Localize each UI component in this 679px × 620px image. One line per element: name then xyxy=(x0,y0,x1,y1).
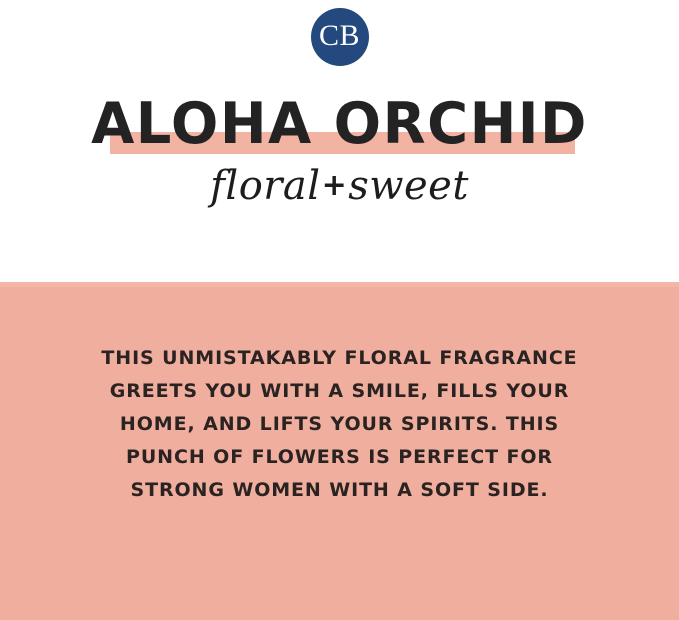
subtitle-suffix: sweet xyxy=(348,163,469,209)
page-title: ALOHA ORCHID xyxy=(7,96,672,152)
subtitle-separator: + xyxy=(321,168,349,203)
description-line: HOME, AND LIFTS YOUR SPIRITS. THIS xyxy=(0,408,679,441)
description-panel: THIS UNMISTAKABLY FLORAL FRAGRANCE GREET… xyxy=(0,282,679,620)
title-block: ALOHA ORCHID xyxy=(0,96,679,158)
logo-circle-icon: CB xyxy=(311,8,369,66)
description-line: PUNCH OF FLOWERS IS PERFECT FOR xyxy=(0,441,679,474)
subtitle-prefix: floral xyxy=(210,163,320,209)
description-line: STRONG WOMEN WITH A SOFT SIDE. xyxy=(0,474,679,507)
description-text: THIS UNMISTAKABLY FLORAL FRAGRANCE GREET… xyxy=(0,342,679,507)
fragrance-subtitle: floral+sweet xyxy=(0,163,679,213)
description-line: THIS UNMISTAKABLY FLORAL FRAGRANCE xyxy=(0,342,679,375)
panel-top-strip xyxy=(0,282,679,287)
logo-initials: CB xyxy=(319,21,360,51)
description-line: GREETS YOU WITH A SMILE, FILLS YOUR xyxy=(0,375,679,408)
brand-logo: CB xyxy=(0,8,679,66)
product-label-card: CB ALOHA ORCHID floral+sweet THIS UNMIST… xyxy=(0,0,679,620)
